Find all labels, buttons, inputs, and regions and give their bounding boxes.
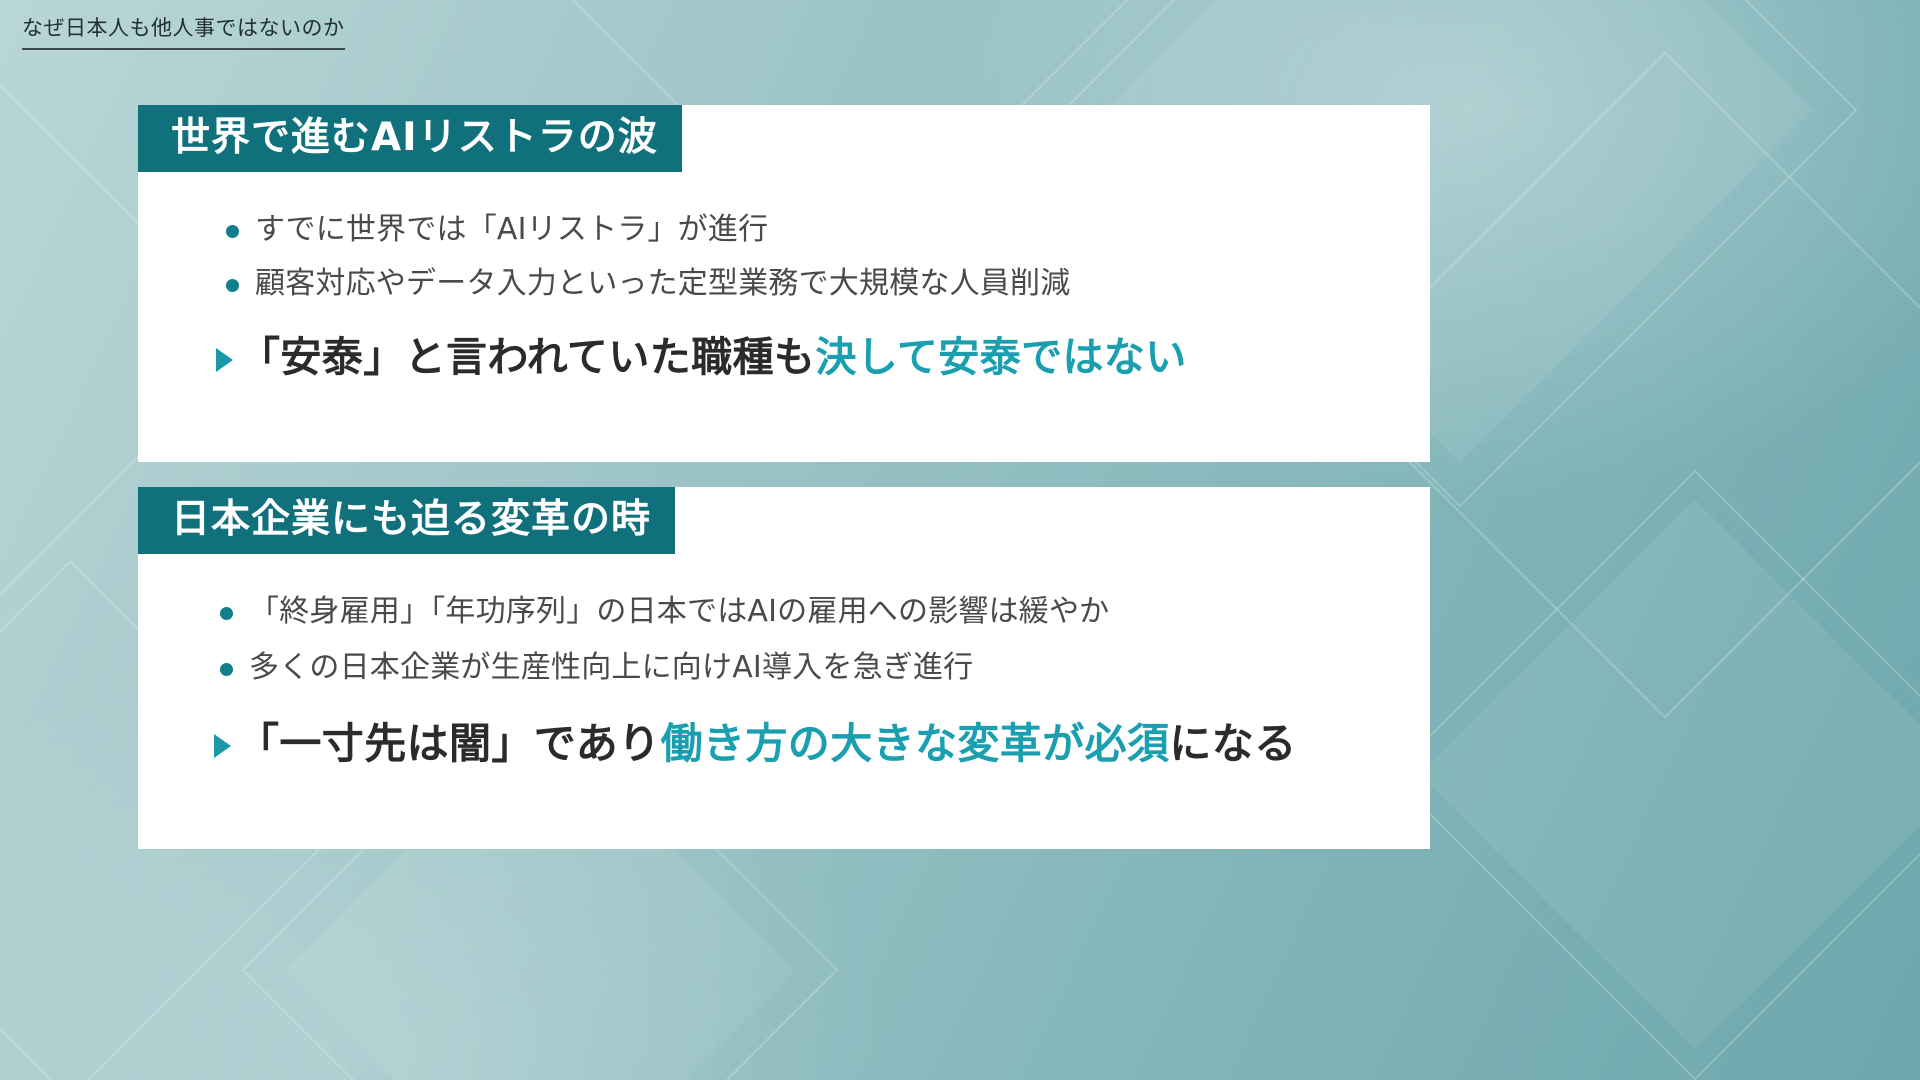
bullet-dot-icon <box>226 279 239 292</box>
bullet-text: 多くの日本企業が生産性向上に向けAI導入を急ぎ進行 <box>249 648 973 688</box>
bullet-dot-icon <box>220 607 233 620</box>
triangle-right-icon <box>216 348 233 372</box>
conclusion-lead: 「一寸先は闇」であり <box>237 718 661 771</box>
list-item: 多くの日本企業が生産性向上に向けAI導入を急ぎ進行 <box>138 648 1430 688</box>
card-1-header: 世界で進むAIリストラの波 <box>138 105 682 172</box>
card-2-conclusion: 「一寸先は闇」であり 働き方の大きな変革が必須 になる <box>138 718 1430 771</box>
card-2-header: 日本企業にも迫る変革の時 <box>138 487 675 554</box>
card-1-conclusion: 「安泰」と言われていた職種も 決して安泰ではない <box>138 332 1430 383</box>
conclusion-highlight: 働き方の大きな変革が必須 <box>661 718 1170 771</box>
content-card-2: 日本企業にも迫る変革の時 「終身雇用」「年功序列」の日本ではAIの雇用への影響は… <box>138 487 1430 849</box>
triangle-right-icon <box>214 734 231 758</box>
card-1-body: すでに世界では「AIリストラ」が進行 顧客対応やデータ入力といった定型業務で大規… <box>138 172 1430 462</box>
card-2-body: 「終身雇用」「年功序列」の日本ではAIの雇用への影響は緩やか 多くの日本企業が生… <box>138 554 1430 849</box>
slide-label: なぜ日本人も他人事ではないのか <box>22 16 345 50</box>
bullet-text: 「終身雇用」「年功序列」の日本ではAIの雇用への影響は緩やか <box>249 592 1109 632</box>
slide-root: なぜ日本人も他人事ではないのか 世界で進むAIリストラの波 すでに世界では「AI… <box>0 0 1920 1080</box>
list-item: 「終身雇用」「年功序列」の日本ではAIの雇用への影響は緩やか <box>138 592 1430 632</box>
content-card-1: 世界で進むAIリストラの波 すでに世界では「AIリストラ」が進行 顧客対応やデー… <box>138 105 1430 462</box>
bullet-text: 顧客対応やデータ入力といった定型業務で大規模な人員削減 <box>255 264 1070 304</box>
list-item: 顧客対応やデータ入力といった定型業務で大規模な人員削減 <box>138 264 1430 304</box>
conclusion-highlight: 決して安泰ではない <box>815 332 1186 383</box>
bullet-dot-icon <box>226 225 239 238</box>
bullet-dot-icon <box>220 663 233 676</box>
conclusion-tail: になる <box>1169 718 1296 771</box>
list-item: すでに世界では「AIリストラ」が進行 <box>138 210 1430 250</box>
bullet-text: すでに世界では「AIリストラ」が進行 <box>255 210 768 250</box>
conclusion-lead: 「安泰」と言われていた職種も <box>239 332 815 383</box>
